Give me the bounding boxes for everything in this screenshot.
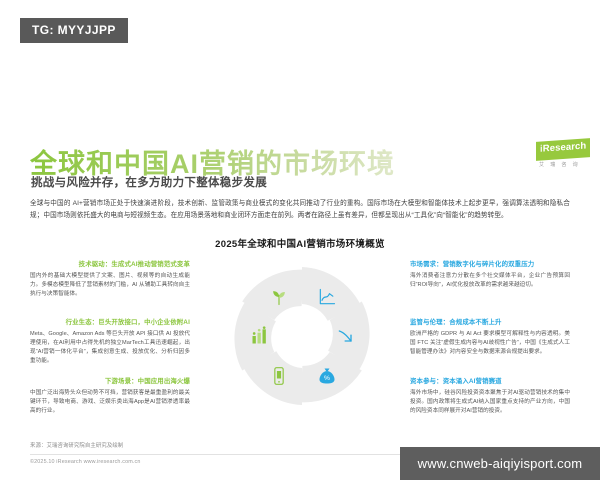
sprout-icon — [268, 286, 290, 308]
block-technology-driver: 技术驱动：生成式AI推动营销范式变革 国内外的基础大模型提供了文案、图片、视频等… — [30, 261, 190, 299]
block-heading: 技术驱动：生成式AI推动营销范式变革 — [30, 261, 190, 269]
block-body: 欧洲严格的 GDPR 与 AI Act 要求模型可解释性与内容透明。美国 FTC… — [410, 330, 570, 357]
block-body: 海外市场中，硅谷风险投资资本聚焦于对AI驱动营销技术的集中投资。国内政策将生成式… — [410, 389, 570, 416]
money-bag-icon: % — [316, 365, 338, 387]
block-market-demand: 市场需求：营销数字化与碎片化的双重压力 海外消费者注意力分散在多个社交媒体平台，… — [410, 261, 570, 290]
block-heading: 下游场景：中国应用出海火爆 — [30, 378, 190, 386]
top-watermark-tag: TG: MYYJJPP — [20, 18, 128, 43]
block-heading: 资本参与：资本涌入AI营销赛道 — [410, 378, 570, 386]
bottom-watermark-url: www.cnweb-aiqiyisport.com — [400, 447, 600, 480]
block-capital-participation: 资本参与：资本涌入AI营销赛道 海外市场中，硅谷风险投资资本聚焦于对AI驱动营销… — [410, 378, 570, 416]
arrow-down-icon — [335, 325, 357, 347]
block-body: 国内外的基础大模型提供了文案、图片、视频等的自动生成能力。多模态模型降低了营销素… — [30, 272, 190, 299]
bar-chart-icon — [249, 325, 271, 347]
block-body: Meta、Google、Amazon Ads 等巨头开放 API 接口供 AI … — [30, 330, 190, 366]
block-heading: 监管与伦理：合规成本不断上升 — [410, 319, 570, 327]
copyright-note: ©2025.10 iResearch www.iresearch.com.cn — [30, 459, 141, 465]
source-note: 来源：艾瑞咨询研究院自主研究及绘制 — [30, 441, 123, 449]
section-heading: 2025年全球和中国AI营销市场环境概览 — [0, 236, 600, 250]
block-industry-ecosystem: 行业生态：巨头开放接口，中小企业依附AI Meta、Google、Amazon … — [30, 319, 190, 367]
block-body: 海外消费者注意力分散在多个社交媒体平台，企业广告预算回归“ROI导向”，AI优化… — [410, 272, 570, 290]
block-regulation-ethics: 监管与伦理：合规成本不断上升 欧洲严格的 GDPR 与 AI Act 要求模型可… — [410, 319, 570, 357]
svg-text:%: % — [324, 375, 330, 382]
donut-diagram: % — [232, 266, 372, 406]
mobile-phone-icon — [268, 365, 290, 387]
block-heading: 市场需求：营销数字化与碎片化的双重压力 — [410, 261, 570, 269]
block-heading: 行业生态：巨头开放接口，中小企业依附AI — [30, 319, 190, 327]
logo-subtitle-cn: 艾 瑞 咨 询 — [539, 161, 589, 168]
block-body: 中国广泛出海势头众但动势不可挡，营销获客是最重盈利的最关键环节，导致电商、游戏、… — [30, 389, 190, 416]
block-downstream-scenarios: 下游场景：中国应用出海火爆 中国广泛出海势头众但动势不可挡，营销获客是最重盈利的… — [30, 378, 190, 416]
line-chart-icon — [316, 286, 338, 308]
slide-canvas: 全球和中国AI营销的市场环境 挑战与风险并存，在多方助力下整体稳步发展 iRes… — [0, 58, 600, 418]
page-subtitle: 挑战与风险并存，在多方助力下整体稳步发展 — [31, 174, 267, 190]
intro-paragraph: 全球与中国的 AI+营销市场正处于快速演进阶段，技术创新、监管政策与商业模式的变… — [30, 198, 570, 221]
iresearch-logo: iResearch 艾 瑞 咨 询 — [536, 140, 590, 170]
